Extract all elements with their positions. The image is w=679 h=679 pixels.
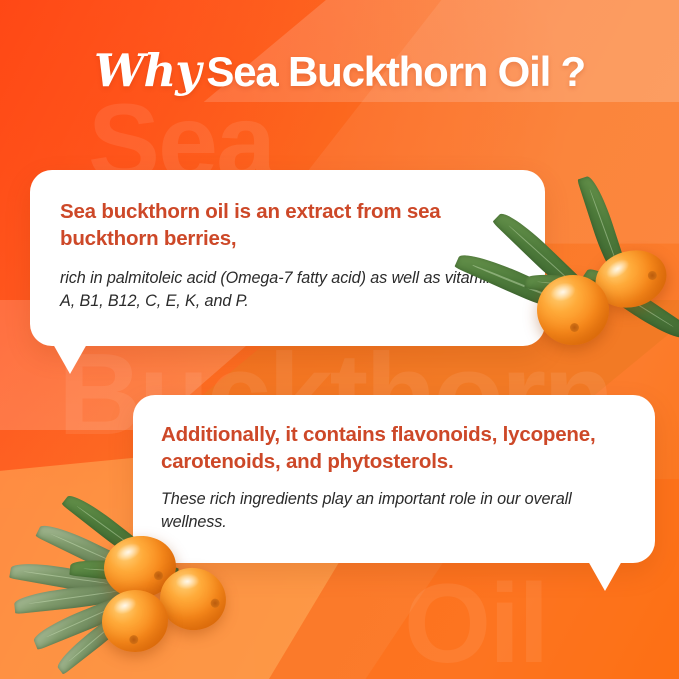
page-title: WhySea Buckthorn Oil ? xyxy=(0,48,679,93)
poster-canvas: Sea Buckthorn Oil WhySea Buckthorn Oil ?… xyxy=(0,0,679,679)
info-bubble-one-heading: Sea buckthorn oil is an extract from sea… xyxy=(60,198,515,253)
info-bubble-two-heading: Additionally, it contains flavonoids, ly… xyxy=(161,421,625,476)
info-bubble-one: Sea buckthorn oil is an extract from sea… xyxy=(30,170,545,346)
page-title-script-word: Why xyxy=(94,44,200,97)
page-title-bold-words: Sea Buckthorn Oil ? xyxy=(206,48,585,95)
info-bubble-two: Additionally, it contains flavonoids, ly… xyxy=(133,395,655,563)
info-bubble-one-body: rich in palmitoleic acid (Omega-7 fatty … xyxy=(60,267,515,313)
info-bubble-one-tail xyxy=(53,344,87,374)
info-bubble-two-tail xyxy=(588,561,622,591)
info-bubble-one-content: Sea buckthorn oil is an extract from sea… xyxy=(30,170,545,313)
info-bubble-two-body: These rich ingredients play an important… xyxy=(161,488,625,534)
info-bubble-two-content: Additionally, it contains flavonoids, ly… xyxy=(133,395,655,534)
